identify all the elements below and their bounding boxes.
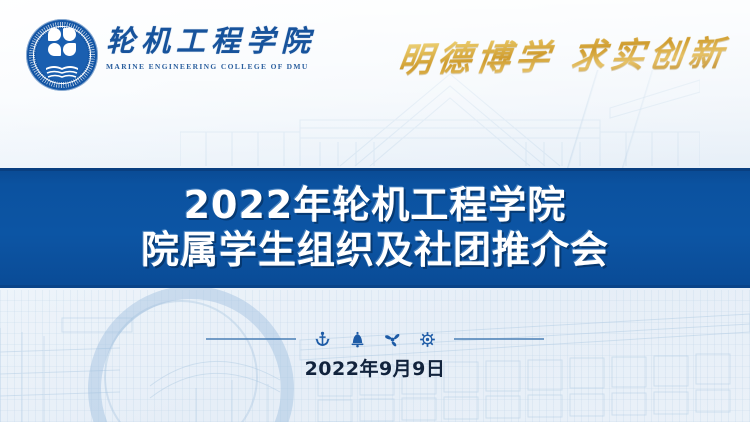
ornament-rule-right xyxy=(454,338,544,340)
crest-book-waves-icon xyxy=(45,64,79,80)
event-poster: 轮机工程学院 MARINE ENGINEERING COLLEGE OF DMU… xyxy=(0,0,750,422)
title-banner: 2022年轮机工程学院 院属学生组织及社团推介会 xyxy=(0,168,750,288)
motto-text: 明德博学 求实创新 xyxy=(395,25,732,81)
poster-header: 轮机工程学院 MARINE ENGINEERING COLLEGE OF DMU… xyxy=(0,0,750,100)
college-name-block: 轮机工程学院 MARINE ENGINEERING COLLEGE OF DMU xyxy=(106,27,316,71)
college-name-cn: 轮机工程学院 xyxy=(106,27,316,56)
college-name-en: MARINE ENGINEERING COLLEGE OF DMU xyxy=(106,62,316,71)
title-line-2: 院属学生组织及社团推介会 xyxy=(141,229,609,272)
dmu-college-crest-icon xyxy=(26,19,98,91)
calligraphy-motto: 明德博学 求实创新 xyxy=(398,24,728,82)
title-line-1: 2022年轮机工程学院 xyxy=(184,184,567,227)
ship-wheel-icon xyxy=(419,331,436,348)
ornament-rule-left xyxy=(206,338,296,340)
propeller-icon xyxy=(384,331,401,348)
crest-flower-icon xyxy=(47,27,77,57)
anchor-icon xyxy=(314,331,331,348)
event-date: 2022年9月9日 xyxy=(0,354,750,381)
nautical-icon-row xyxy=(0,329,750,349)
bell-icon xyxy=(349,331,366,348)
